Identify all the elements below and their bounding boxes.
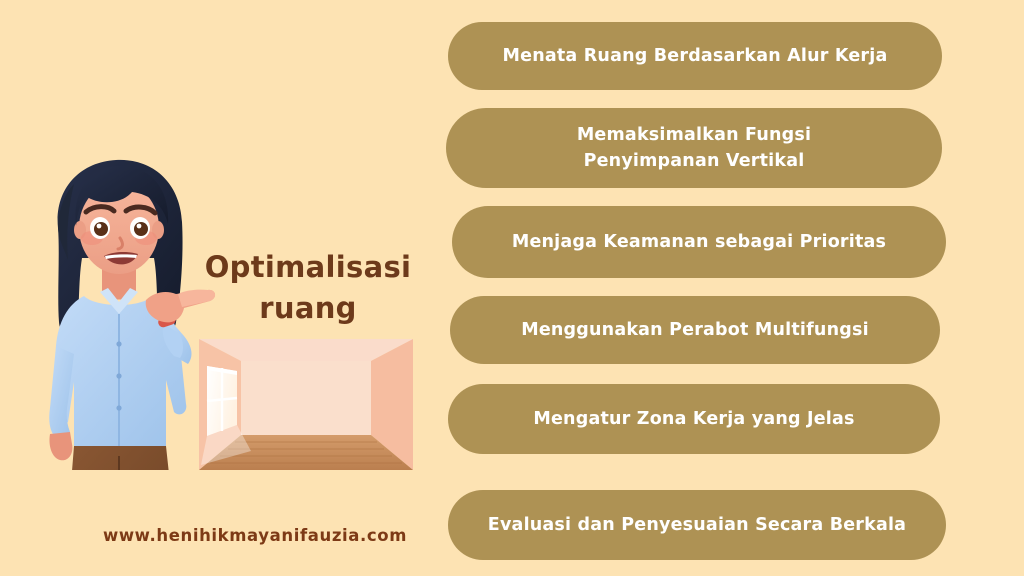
iris-right <box>134 222 148 236</box>
page-title-line-2: ruang <box>186 288 430 329</box>
page-title-line-1: Optimalisasi <box>186 247 430 288</box>
list-item-label: Menggunakan Perabot Multifungsi <box>521 317 869 343</box>
shirt-button <box>116 341 121 346</box>
list-item[interactable]: Memaksimalkan Fungsi Penyimpanan Vertika… <box>446 108 942 188</box>
site-url: www.henihikmayanifauzia.com <box>100 526 410 545</box>
iris-left <box>94 222 108 236</box>
list-item[interactable]: Menggunakan Perabot Multifungsi <box>450 296 940 364</box>
eye-highlight-right <box>137 224 142 229</box>
eye-highlight-left <box>97 224 102 229</box>
list-item-label: Evaluasi dan Penyesuaian Secara Berkala <box>488 512 906 538</box>
list-item-label: Menjaga Keamanan sebagai Prioritas <box>512 229 886 255</box>
pants <box>69 446 173 470</box>
list-item-label: Memaksimalkan Fungsi Penyimpanan Vertika… <box>577 122 811 174</box>
empty-room-illustration <box>199 339 413 470</box>
list-item[interactable]: Mengatur Zona Kerja yang Jelas <box>448 384 940 454</box>
list-item-label: Mengatur Zona Kerja yang Jelas <box>533 406 854 432</box>
infographic-slide: Optimalisasi ruang www.henihikmayanifauz… <box>0 0 1024 576</box>
list-item[interactable]: Menata Ruang Berdasarkan Alur Kerja <box>448 22 942 90</box>
left-panel: Optimalisasi ruang www.henihikmayanifauz… <box>0 0 440 576</box>
list-item-label: Menata Ruang Berdasarkan Alur Kerja <box>503 43 888 69</box>
list-item[interactable]: Menjaga Keamanan sebagai Prioritas <box>452 206 946 278</box>
shirt-button <box>116 373 121 378</box>
shirt-button <box>116 405 121 410</box>
room-wall-back <box>241 361 371 435</box>
hand-left <box>49 432 72 460</box>
list-item[interactable]: Evaluasi dan Penyesuaian Secara Berkala <box>448 490 946 560</box>
tips-list: Menata Ruang Berdasarkan Alur Kerja Mema… <box>440 0 1024 576</box>
page-title: Optimalisasi ruang <box>186 247 430 329</box>
